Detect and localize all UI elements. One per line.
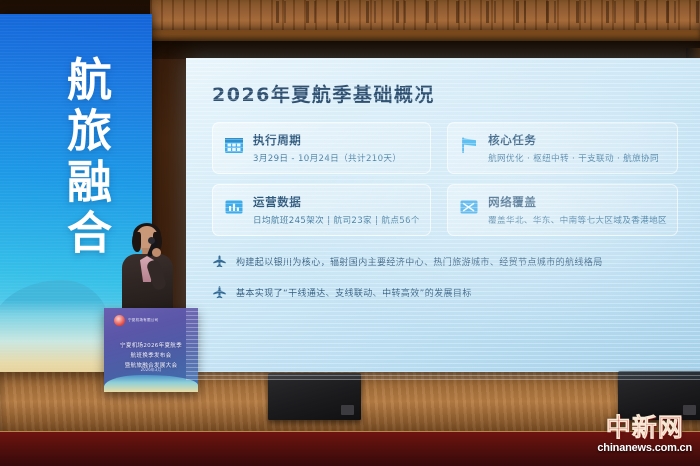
presenter-hand bbox=[152, 248, 161, 257]
banner-vertical-title: 航旅融合 bbox=[34, 56, 108, 260]
airplane-icon bbox=[212, 285, 227, 300]
podium-event-date: 2026年3月 bbox=[104, 367, 198, 373]
podium-logo: 宁夏机场有限公司 bbox=[114, 315, 158, 326]
banner-hill-graphic bbox=[0, 280, 110, 332]
card-title: 核心任务 bbox=[488, 132, 667, 148]
podium-wave-graphic bbox=[104, 375, 198, 392]
watermark: 中新网 chinanews.com.cn bbox=[597, 415, 692, 454]
bullet-text: 基本实现了“干线通达、支线联动、中转高效”的发展目标 bbox=[236, 286, 472, 299]
card-network-coverage: 网络覆盖 覆盖华北、华东、中南等七大区域及香港地区 bbox=[447, 184, 678, 236]
bullet-item: 基本实现了“干线通达、支线联动、中转高效”的发展目标 bbox=[212, 285, 678, 300]
card-subtitle: 覆盖华北、华东、中南等七大区域及香港地区 bbox=[488, 214, 667, 226]
card-operating-data: 运营数据 日均航班245架次 | 航司23家 | 航点56个 bbox=[212, 184, 431, 236]
chinanews-url: chinanews.com.cn bbox=[597, 442, 692, 454]
bullet-item: 构建起以银川为核心，辐射国内主要经济中心、热门旅游城市、经贸节点城市的航线格局 bbox=[212, 254, 678, 269]
chinanews-logo: 中新网 bbox=[597, 415, 692, 440]
lectern-podium: 宁夏机场有限公司 宁夏机场2026年夏航季 航班换季发布会 暨航旅融合发展大会 … bbox=[104, 308, 198, 392]
bar-chart-icon bbox=[224, 197, 244, 217]
ceiling-fret-pattern bbox=[270, 1, 700, 23]
podium-org-name: 宁夏机场有限公司 bbox=[128, 318, 158, 323]
card-title: 执行周期 bbox=[253, 132, 420, 148]
slide-bullet-list: 构建起以银川为核心，辐射国内主要经济中心、热门旅游城市、经贸节点城市的航线格局 … bbox=[212, 254, 678, 300]
stage-monitor-speaker bbox=[268, 373, 361, 420]
card-core-tasks: 核心任务 航网优化 · 枢纽中转 · 干支联动 · 航旅协同 bbox=[447, 122, 678, 174]
flag-icon bbox=[459, 135, 479, 155]
ceiling-dentil-molding bbox=[150, 30, 700, 41]
presenter-figure bbox=[112, 226, 182, 316]
bullet-text: 构建起以银川为核心，辐射国内主要经济中心、热门旅游城市、经贸节点城市的航线格局 bbox=[236, 255, 603, 268]
ceiling-shadow bbox=[150, 41, 700, 59]
airline-logo-icon bbox=[114, 315, 125, 326]
calendar-icon bbox=[224, 135, 244, 155]
card-subtitle: 日均航班245架次 | 航司23家 | 航点56个 bbox=[253, 214, 420, 226]
presenter-hair-side bbox=[132, 232, 141, 252]
conference-photo-scene: 航旅融合 2026年夏航季基础概况 bbox=[0, 0, 700, 466]
card-execution-period: 执行周期 3月29日 - 10月24日（共计210天） bbox=[212, 122, 431, 174]
card-title: 运营数据 bbox=[253, 194, 420, 210]
slide-title: 2026年夏航季基础概况 bbox=[212, 80, 678, 107]
stage-front-panel bbox=[0, 432, 700, 466]
airplane-icon bbox=[212, 254, 227, 269]
microphone-head bbox=[148, 237, 155, 244]
slide-card-grid: 执行周期 3月29日 - 10月24日（共计210天） 核心任务 航网优 bbox=[212, 122, 678, 236]
presentation-slide: 2026年夏航季基础概况 bbox=[186, 58, 700, 380]
card-subtitle: 航网优化 · 枢纽中转 · 干支联动 · 航旅协同 bbox=[488, 152, 667, 164]
network-icon bbox=[459, 197, 479, 217]
card-subtitle: 3月29日 - 10月24日（共计210天） bbox=[253, 152, 420, 164]
card-title: 网络覆盖 bbox=[488, 194, 667, 210]
